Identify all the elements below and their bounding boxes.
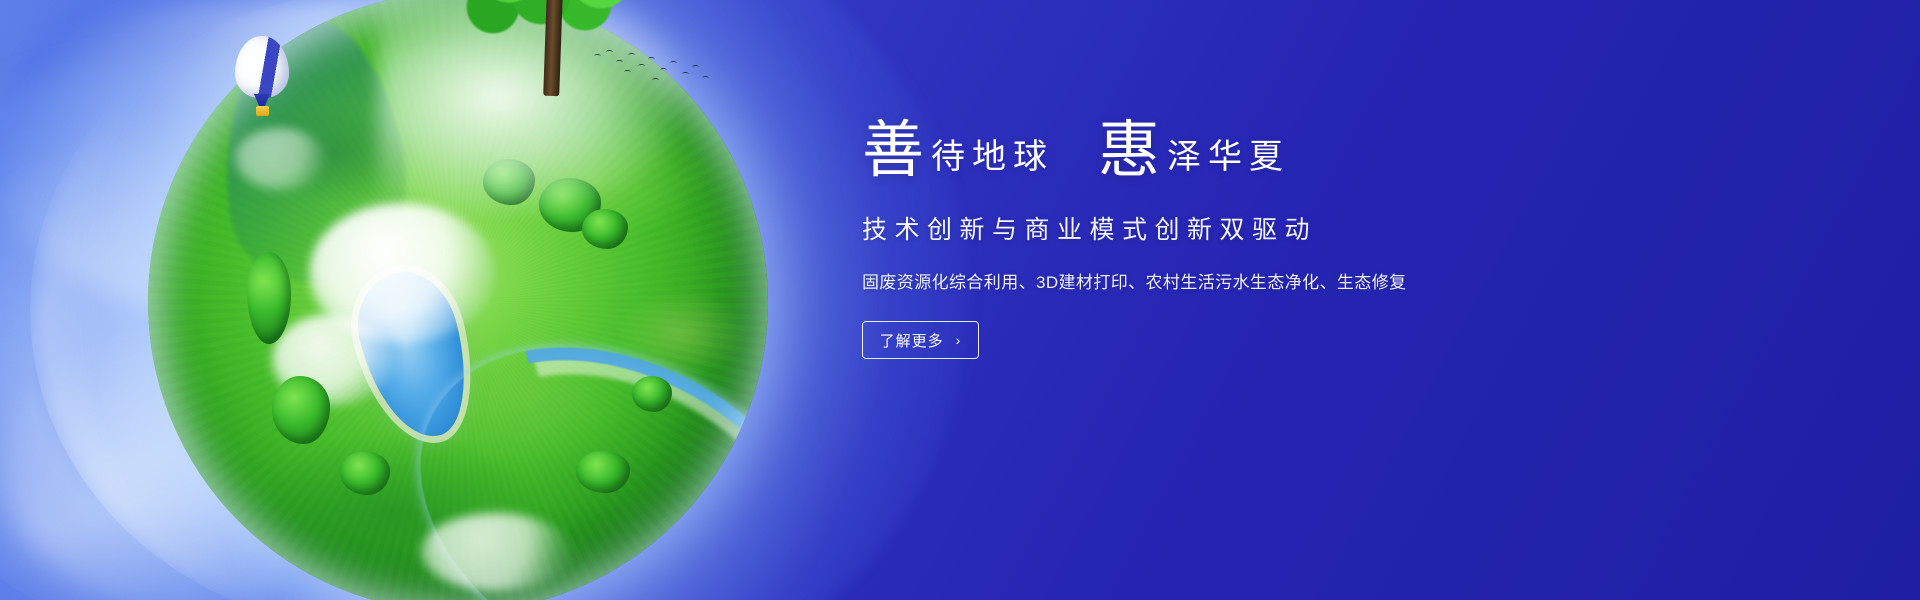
headline-part2-small: 泽华夏 xyxy=(1167,141,1290,182)
tree-clump-icon-8 xyxy=(576,451,630,493)
tree-trunk xyxy=(543,0,563,96)
bird-flock-icon xyxy=(590,48,720,92)
headline-part2-large: 惠 xyxy=(1098,120,1161,182)
page-description: 固废资源化综合利用、3D建材打印、农村生活污水生态净化、生态修复 xyxy=(862,268,1562,293)
page-title: 善 待地球 惠 泽华夏 xyxy=(862,120,1562,182)
tree-clump-icon-3 xyxy=(582,209,628,249)
planet-cloud-icon-3 xyxy=(421,513,571,591)
hero-copy: 善 待地球 惠 泽华夏 技术创新与商业模式创新双驱动 固废资源化综合利用、3D建… xyxy=(862,120,1562,359)
hot-air-balloon-icon xyxy=(235,36,289,120)
headline-part1-large: 善 xyxy=(862,120,925,182)
headline-part1-small: 待地球 xyxy=(931,141,1054,182)
chevron-right-icon: › xyxy=(956,332,962,348)
tree-clump-icon-6 xyxy=(340,451,390,495)
planet-cloud-icon-4 xyxy=(235,128,325,190)
balloon-skirt xyxy=(254,94,270,106)
tree-clump-icon-5 xyxy=(272,376,330,444)
learn-more-label: 了解更多 xyxy=(880,330,944,351)
hero-banner: 善 待地球 惠 泽华夏 技术创新与商业模式创新双驱动 固废资源化综合利用、3D建… xyxy=(0,0,1920,600)
balloon-basket xyxy=(256,106,269,116)
balloon-envelope xyxy=(235,36,289,98)
learn-more-button[interactable]: 了解更多 › xyxy=(862,321,979,359)
page-subtitle: 技术创新与商业模式创新双驱动 xyxy=(862,210,1562,246)
